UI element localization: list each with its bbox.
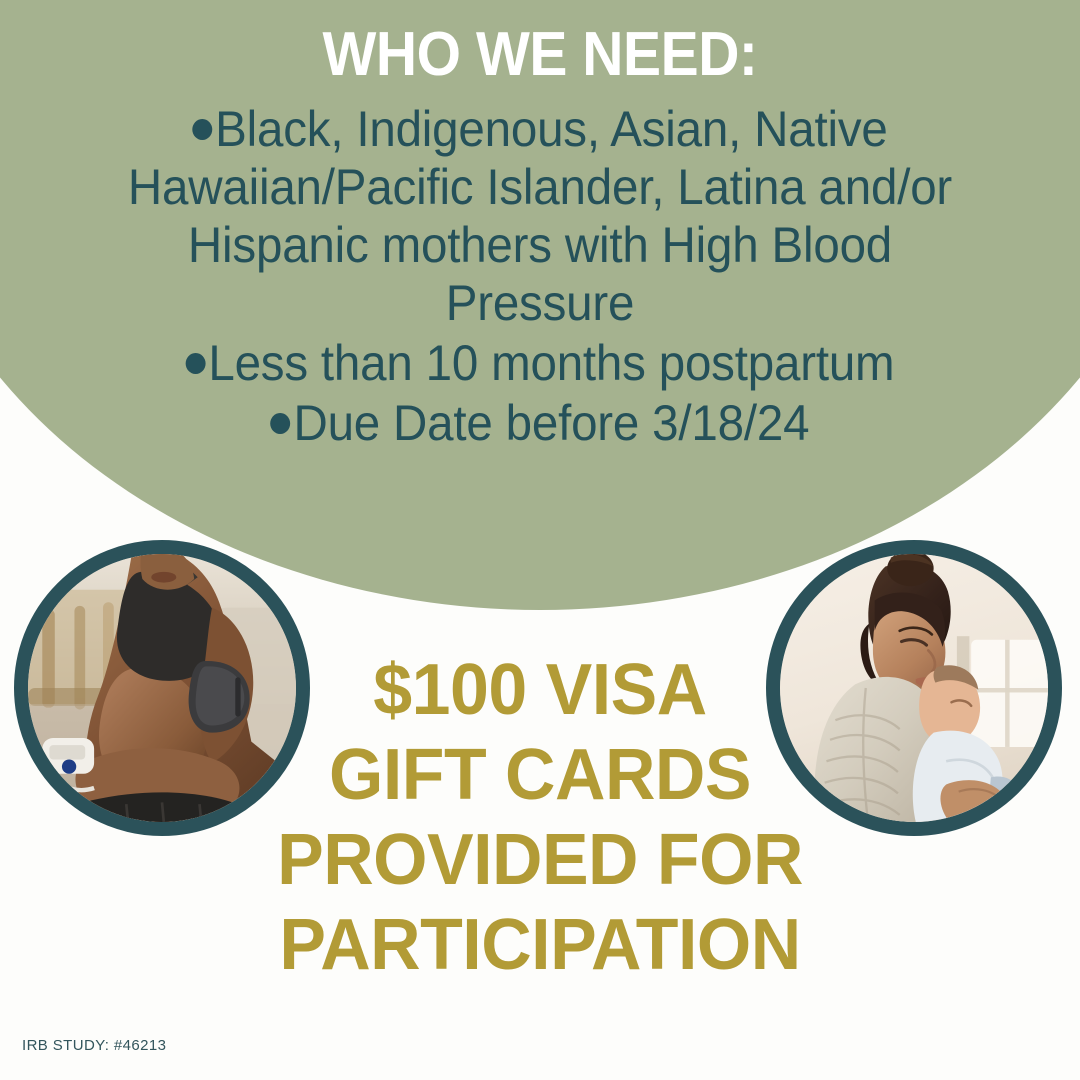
- bullet-dot-icon: [271, 413, 291, 434]
- list-item-label: Less than 10 months postpartum: [208, 335, 894, 391]
- bullet-dot-icon: [186, 353, 206, 374]
- bullet-dot-icon: [192, 119, 212, 140]
- list-item: Black, Indigenous, Asian, Native Hawaiia…: [94, 100, 987, 332]
- photo-image: [780, 554, 1048, 822]
- eligibility-criteria-list: Black, Indigenous, Asian, Native Hawaiia…: [0, 100, 1080, 452]
- list-item: Due Date before 3/18/24: [94, 394, 987, 452]
- eligibility-section: WHO WE NEED: Black, Indigenous, Asian, N…: [0, 0, 1080, 454]
- list-item: Less than 10 months postpartum: [94, 334, 987, 392]
- irb-study-number: IRB STUDY: #46213: [22, 1037, 166, 1054]
- page-title: WHO WE NEED:: [43, 24, 1037, 86]
- recruitment-flyer: WHO WE NEED: Black, Indigenous, Asian, N…: [0, 0, 1080, 1080]
- photo-image: [28, 554, 296, 822]
- incentive-line: PARTICIPATION: [16, 903, 1064, 988]
- photo-pregnant-person-blood-pressure-cuff: [14, 540, 310, 836]
- list-item-label: Due Date before 3/18/24: [293, 395, 809, 451]
- list-item-label: Black, Indigenous, Asian, Native Hawaiia…: [128, 101, 952, 331]
- photo-mother-kissing-newborn: [766, 540, 1062, 836]
